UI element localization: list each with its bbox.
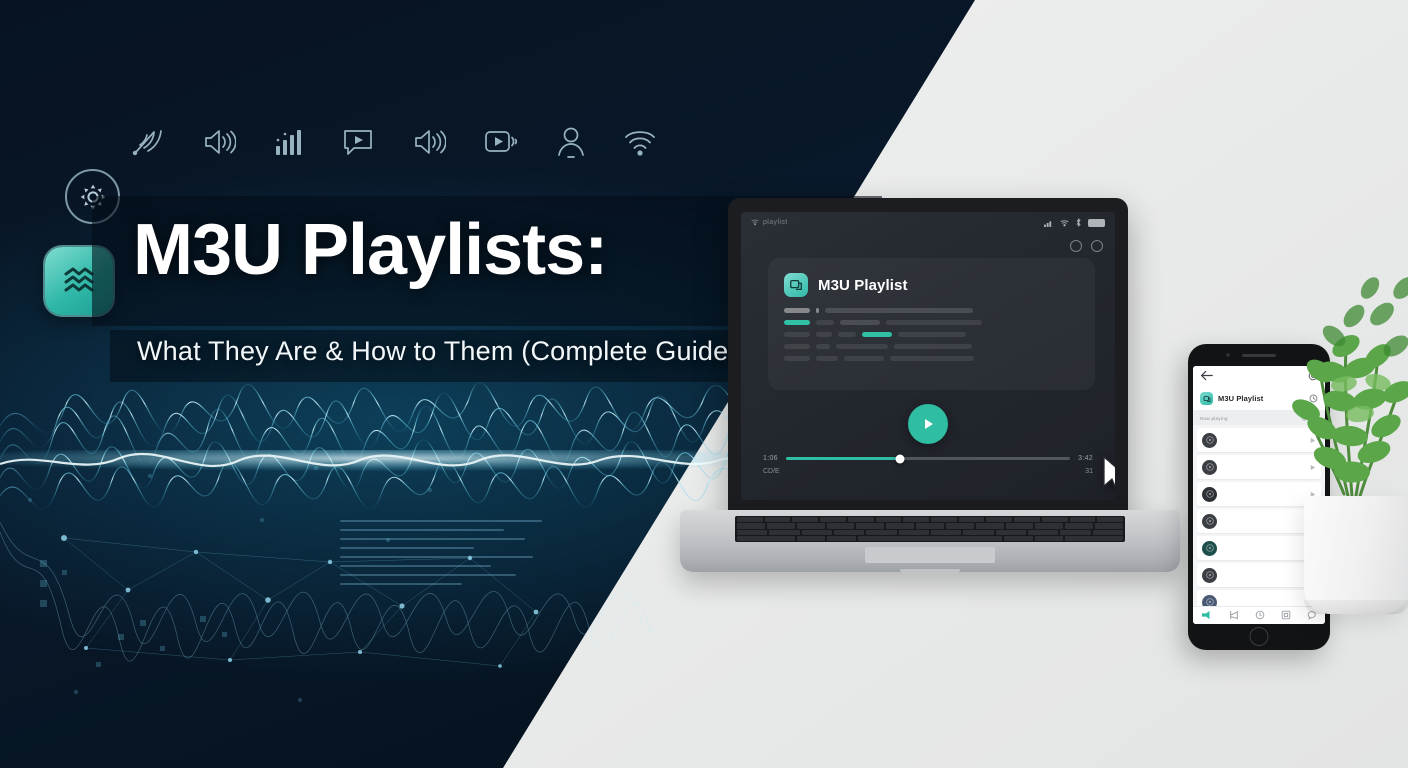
track-thumb	[1202, 433, 1217, 448]
playlist-app-icon	[1200, 392, 1213, 405]
seek-fill	[786, 457, 900, 460]
playlist-card-header: M3U Playlist	[784, 273, 1079, 297]
track-thumb	[1202, 460, 1217, 475]
play-chat-bubble-icon	[342, 127, 374, 157]
wifi-small-icon	[751, 218, 759, 226]
phone-speaker-grill	[1242, 354, 1276, 357]
feature-icon-row	[130, 126, 656, 158]
minimize-icon[interactable]	[1070, 240, 1082, 252]
seek-sub-labels: CD/E 31	[763, 468, 1093, 475]
play-box-icon	[484, 128, 518, 156]
laptop-base-notch	[900, 569, 960, 574]
time-total-sub: 31	[1085, 468, 1093, 475]
user-person-icon	[556, 126, 586, 158]
close-icon[interactable]	[1091, 240, 1103, 252]
playlist-card: M3U Playlist	[768, 258, 1095, 390]
signal-icon	[1044, 219, 1055, 227]
broadcast-antenna-icon	[130, 126, 164, 158]
window-label: playlist	[751, 218, 788, 226]
nav-home-icon[interactable]	[1201, 607, 1213, 625]
keyboard-row	[737, 523, 1123, 528]
phone-home-button[interactable]	[1250, 627, 1269, 646]
laptop-mockup: playlist	[680, 198, 1180, 588]
battery-icon	[1088, 219, 1105, 227]
nav-playlist-icon[interactable]	[1229, 607, 1239, 625]
window-label-text: playlist	[763, 219, 788, 226]
screen-window-tools[interactable]	[1070, 240, 1103, 252]
wifi-icon	[624, 127, 656, 157]
speaker-waves-icon	[412, 126, 446, 158]
skeleton-row	[784, 344, 1079, 349]
bluetooth-icon	[1074, 218, 1083, 227]
speaker-volume-icon	[202, 126, 236, 158]
track-thumb	[1202, 568, 1217, 583]
playlist-skeleton-rows	[784, 308, 1079, 361]
keyboard-row	[737, 536, 1123, 541]
phone-subbar-label: Now playing	[1200, 416, 1228, 421]
laptop-lid: playlist	[728, 198, 1128, 516]
nav-clock-icon[interactable]	[1255, 607, 1265, 625]
time-elapsed-sub: CD/E	[763, 468, 780, 475]
keyboard-row	[737, 517, 1123, 522]
mouse-pointer	[1101, 455, 1115, 500]
seek-bar[interactable]	[786, 457, 1070, 460]
signal-bars-icon	[274, 127, 304, 157]
plant-pot	[1304, 496, 1408, 614]
keyboard-row	[737, 530, 1123, 535]
laptop-trackpad[interactable]	[865, 547, 995, 563]
plant-foliage	[1286, 196, 1408, 516]
laptop-keyboard[interactable]	[735, 516, 1125, 542]
back-arrow-icon[interactable]	[1200, 368, 1213, 386]
screen-status-bar	[1044, 218, 1105, 227]
decorative-grid-dots	[0, 380, 520, 740]
skeleton-row	[784, 332, 1079, 337]
hero-banner: M3U Playlists: What They Are & How to Th…	[0, 0, 1408, 768]
time-total: 3:42	[1078, 455, 1093, 462]
playlist-app-icon	[784, 273, 808, 297]
skeleton-row	[784, 308, 1079, 313]
page-subtitle: What They Are & How to Them (Complete Gu…	[137, 336, 738, 367]
time-elapsed: 1:06	[763, 455, 778, 462]
skeleton-row	[784, 356, 1079, 361]
track-thumb	[1202, 541, 1217, 556]
playlist-card-title: M3U Playlist	[818, 277, 908, 294]
play-button[interactable]	[908, 404, 948, 444]
phone-app-title: M3U Playlist	[1218, 394, 1263, 403]
laptop-screen: playlist	[741, 212, 1115, 500]
potted-plant	[1286, 196, 1408, 616]
track-thumb	[1202, 514, 1217, 529]
page-title: M3U Playlists:	[133, 214, 607, 286]
phone-camera	[1226, 353, 1230, 357]
seek-control[interactable]: 1:06 3:42	[763, 455, 1093, 462]
track-thumb	[1202, 595, 1217, 607]
seek-knob[interactable]	[895, 454, 904, 463]
track-thumb	[1202, 487, 1217, 502]
wifi-icon	[1060, 219, 1069, 227]
skeleton-row	[784, 320, 1079, 325]
